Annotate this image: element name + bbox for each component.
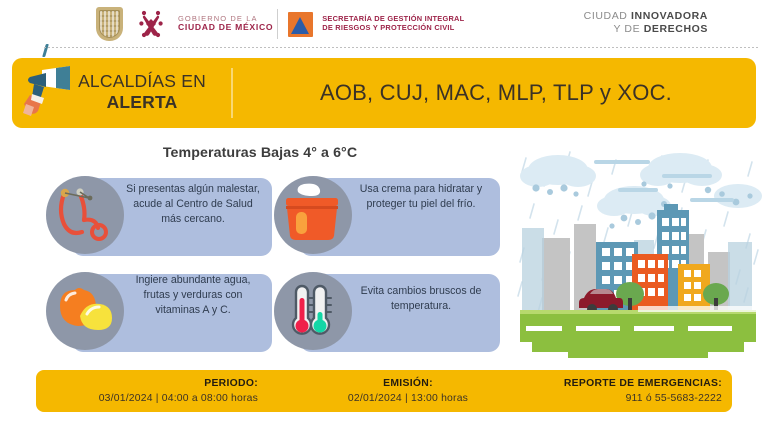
stethoscope-icon [46,176,124,254]
cdmx-x-logo-icon [132,6,170,42]
tip-text: Ingiere abundante agua, frutas y verdura… [122,273,264,318]
tagline-block: CIUDAD INNOVADORA Y DE DERECHOS [584,10,708,36]
alert-banner-right: AOB, CUJ, MAC, MLP, TLP y XOC. [242,58,750,128]
cream-jar-icon [274,176,352,254]
tip-text: Evita cambios bruscos de temperatura. [350,284,492,314]
alcaldias-list: AOB, CUJ, MAC, MLP, TLP y XOC. [320,80,672,106]
gobierno-text: GOBIERNO DE LA CIUDAD DE MÉXICO [178,15,273,33]
footer-title: REPORTE DE EMERGENCIAS: [564,377,722,390]
page-header: GOBIERNO DE LA CIUDAD DE MÉXICO SECRETAR… [0,0,768,46]
tagline-line1: CIUDAD INNOVADORA [584,10,708,23]
thermometers-icon [274,272,352,350]
protection-civil-triangle-icon [288,12,313,37]
header-dotted-rule [44,47,758,48]
alert-banner-separator [231,68,233,118]
gobierno-cdmx-logo-block: GOBIERNO DE LA CIUDAD DE MÉXICO SECRETAR… [96,6,464,42]
tip-card-cream: Usa crema para hidratar y proteger tu pi… [272,172,500,262]
alert-label: ALCALDÍAS EN ALERTA [60,71,224,112]
infographic-page: GOBIERNO DE LA CIUDAD DE MÉXICO SECRETAR… [0,0,768,423]
footer-block-periodo: PERIODO: 03/01/2024 | 04:00 a 08:00 hora… [36,370,292,412]
fruits-icon [46,272,124,350]
tip-card-fruits: Ingiere abundante agua, frutas y verdura… [44,268,272,358]
tip-text: Si presentas algún malestar, acude al Ce… [122,182,264,227]
tips-grid: Si presentas algún malestar, acude al Ce… [44,172,504,364]
footer-value: 911 ó 55-5683-2222 [626,392,722,405]
rainy-city-illustration [512,142,764,364]
secretaria-logo-block: SECRETARÍA DE GESTIÓN INTEGRAL DE RIESGO… [288,6,464,42]
cdmx-shield-icon [96,7,123,41]
footer-title: EMISIÓN: [383,377,433,390]
alert-banner: ALCALDÍAS EN ALERTA AOB, CUJ, MAC, MLP, … [12,58,756,128]
page-footer: PERIODO: 03/01/2024 | 04:00 a 08:00 hora… [0,370,768,416]
alert-banner-left: ALCALDÍAS EN ALERTA [12,58,230,128]
footer-block-emision: EMISIÓN: 02/01/2024 | 13:00 horas [292,370,524,412]
tip-card-temperature: Evita cambios bruscos de temperatura. [272,268,500,358]
alert-label-line1: ALCALDÍAS EN [60,71,224,92]
temperature-title: Temperaturas Bajas 4° a 6°C [40,145,480,161]
footer-block-emergencias: REPORTE DE EMERGENCIAS: 911 ó 55-5683-22… [524,370,732,412]
footer-value: 03/01/2024 | 04:00 a 08:00 horas [99,392,258,405]
gobierno-line2: CIUDAD DE MÉXICO [178,23,273,33]
tip-text: Usa crema para hidratar y proteger tu pi… [350,182,492,212]
secretaria-text: SECRETARÍA DE GESTIÓN INTEGRAL DE RIESGO… [322,15,464,33]
tip-card-health-center: Si presentas algún malestar, acude al Ce… [44,172,272,262]
footer-title: PERIODO: [204,377,258,390]
tagline-line2: Y DE DERECHOS [584,23,708,36]
header-divider [277,9,278,39]
secretaria-line2: DE RIESGOS Y PROTECCIÓN CIVIL [322,24,464,33]
alert-label-line2: ALERTA [60,92,224,113]
footer-value: 02/01/2024 | 13:00 horas [348,392,468,405]
